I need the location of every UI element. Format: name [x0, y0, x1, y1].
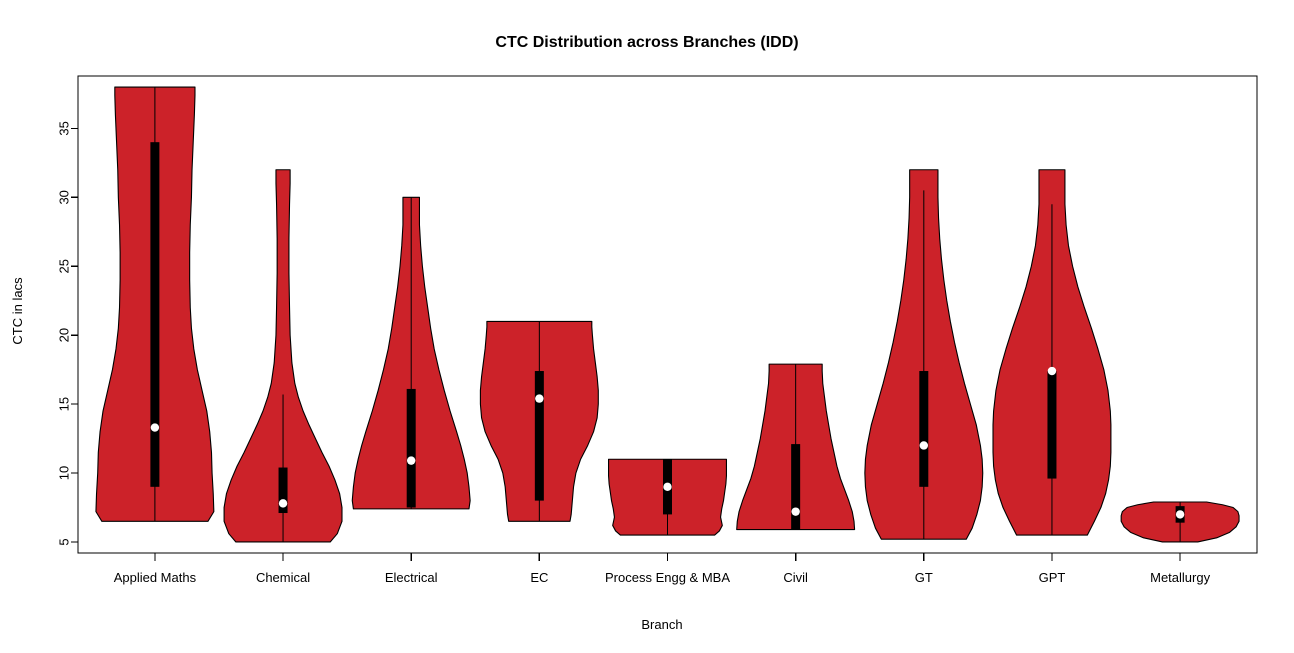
violin-median-point — [663, 483, 671, 491]
x-tick-label: EC — [530, 570, 548, 585]
x-tick-label: Civil — [783, 570, 808, 585]
violin-metallurgy[interactable] — [1121, 502, 1239, 542]
violin-plot-figure: CTC Distribution across Branches (IDD) 5… — [0, 0, 1294, 653]
x-tick-label: Process Engg & MBA — [605, 570, 730, 585]
violin-iqr-box — [407, 389, 416, 508]
plot-canvas: CTC Distribution across Branches (IDD) 5… — [0, 0, 1294, 653]
x-axis-title: Branch — [641, 617, 682, 632]
x-tick-label: GT — [915, 570, 933, 585]
violin-process-engg-mba[interactable] — [609, 459, 727, 535]
violin-iqr-box — [1047, 371, 1056, 479]
x-tick-label: Electrical — [385, 570, 438, 585]
violin-median-point — [407, 456, 415, 464]
violin-median-point — [791, 507, 799, 515]
y-tick-label: 20 — [56, 328, 71, 342]
violin-median-point — [1176, 510, 1184, 518]
page-title: CTC Distribution across Branches (IDD) — [495, 34, 798, 51]
y-tick-label: 10 — [56, 466, 71, 480]
x-tick-label: Chemical — [256, 570, 310, 585]
violin-median-point — [279, 499, 287, 507]
y-axis-title: CTC in lacs — [10, 277, 25, 345]
y-tick-label: 30 — [56, 190, 71, 204]
x-tick-label: GPT — [1039, 570, 1066, 585]
violin-iqr-box — [791, 444, 800, 529]
x-tick-label: Metallurgy — [1150, 570, 1210, 585]
y-tick-label: 25 — [56, 259, 71, 273]
y-tick-label: 15 — [56, 397, 71, 411]
violin-median-point — [151, 423, 159, 431]
violin-iqr-box — [150, 142, 159, 487]
violin-median-point — [1048, 367, 1056, 375]
violin-iqr-box — [919, 371, 928, 487]
violin-iqr-box — [535, 371, 544, 501]
x-tick-label: Applied Maths — [114, 570, 197, 585]
y-tick-label: 35 — [56, 121, 71, 135]
violin-median-point — [920, 441, 928, 449]
y-tick-label: 5 — [56, 538, 71, 545]
violin-median-point — [535, 394, 543, 402]
